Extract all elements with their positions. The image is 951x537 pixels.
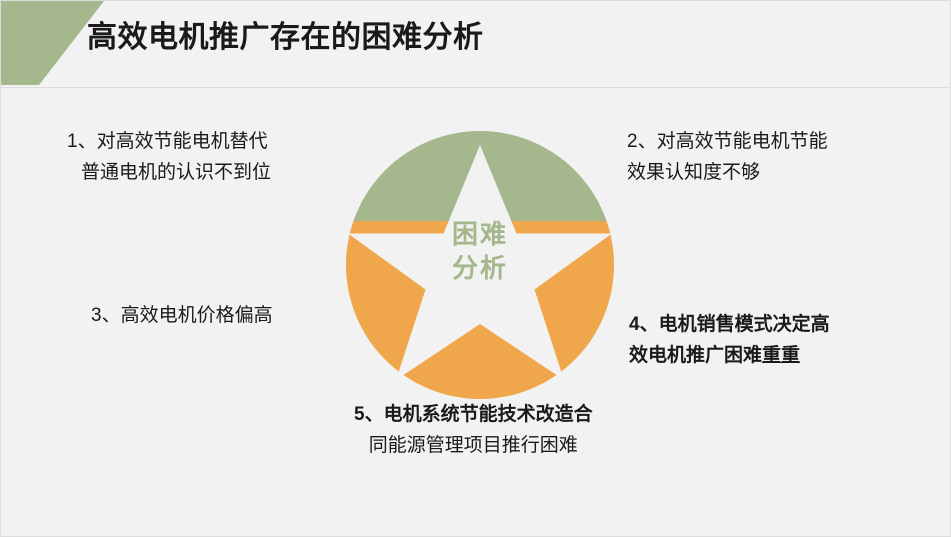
callout-4-line1: 4、电机销售模式决定高	[629, 309, 830, 340]
star-circle-diagram: 困难 分析	[344, 129, 616, 401]
callout-1-line2: 普通电机的认识不到位	[67, 157, 271, 188]
callout-item-2: 2、对高效节能电机节能 效果认知度不够	[627, 126, 828, 188]
callout-4-line2-underlined: 重重	[762, 345, 800, 366]
star-circle-svg	[344, 129, 616, 401]
callout-item-5: 5、电机系统节能技术改造合 同能源管理项目推行困难	[354, 399, 593, 461]
callout-2-line1: 2、对高效节能电机节能	[627, 126, 828, 157]
callout-5-line2: 同能源管理项目推行困难	[354, 430, 593, 461]
header-divider	[1, 87, 951, 88]
callout-item-4: 4、电机销售模式决定高 效电机推广困难重重	[629, 309, 830, 371]
callout-item-1: 1、对高效节能电机替代 普通电机的认识不到位	[67, 126, 271, 188]
slide-canvas: 高效电机推广存在的困难分析 困难 分析 1、对高	[0, 0, 951, 537]
slide-header: 高效电机推广存在的困难分析	[1, 1, 951, 88]
callout-4-line2: 效电机推广困难重重	[629, 340, 830, 371]
circle-bottom-half	[344, 221, 616, 401]
callout-3-line1: 3、高效电机价格偏高	[91, 300, 273, 331]
callout-2-line2: 效果认知度不够	[627, 157, 828, 188]
callout-item-3: 3、高效电机价格偏高	[91, 300, 273, 331]
callout-1-line1: 1、对高效节能电机替代	[67, 126, 271, 157]
callout-5-line1: 5、电机系统节能技术改造合	[354, 399, 593, 430]
page-title: 高效电机推广存在的困难分析	[87, 15, 484, 60]
circle-top-half	[344, 129, 616, 221]
callout-4-line2-plain: 效电机推广困难	[629, 345, 762, 366]
